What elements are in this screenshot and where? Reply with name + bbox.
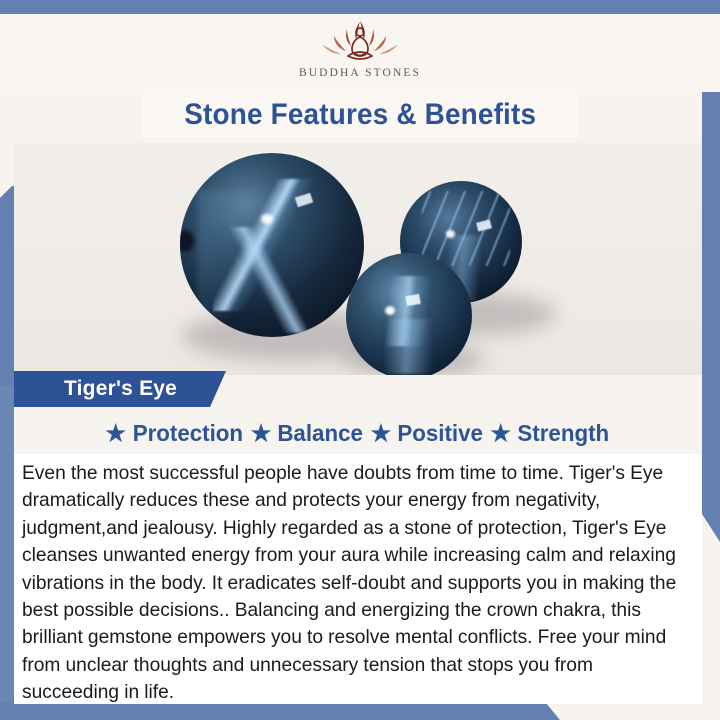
page-title: Stone Features & Benefits [142,92,578,138]
brand-name: BUDDHA STONES [299,67,421,79]
stone-name-label: Tiger's Eye [64,377,177,401]
benefit-item-protection: ★ Protection [105,420,244,447]
specular-highlight [385,306,395,315]
frame-left-bar [0,186,14,386]
stone-photo [14,143,702,375]
benefit-label: Balance [278,420,364,447]
reflection-patch [406,293,422,305]
brand-logo: BUDDHA STONES [0,14,720,92]
chatoyant-band [359,319,465,374]
frame-left-lower-bar [0,386,14,706]
star-icon: ★ [490,422,511,445]
sheen [198,190,345,319]
description-text: Even the most successful people have dou… [22,460,688,707]
frame-top-bar [0,0,720,14]
poster-root: BUDDHA STONES Stone Features & Benefits [0,0,720,720]
benefit-item-balance: ★ Balance [251,420,365,447]
benefits-row: ★ Protection ★ Balance ★ Positive ★ Stre… [14,412,702,454]
stone-name-banner: Tiger's Eye [14,371,226,407]
benefit-label: Protection [133,420,243,447]
frame-right-bar [702,14,720,542]
benefit-item-strength: ★ Strength [490,420,610,447]
sphere-large [180,153,364,337]
description-panel: Even the most successful people have dou… [14,454,702,704]
star-icon: ★ [105,422,126,445]
sphere-small [346,253,472,375]
star-icon: ★ [251,422,272,445]
benefit-label: Strength [517,420,609,447]
star-icon: ★ [371,422,392,445]
lotus-meditation-icon [317,14,403,66]
benefit-item-positive: ★ Positive [371,420,485,447]
benefit-label: Positive [398,420,484,447]
specular-highlight [261,214,273,224]
page-title-text: Stone Features & Benefits [184,98,536,132]
surface-mark [180,230,194,252]
